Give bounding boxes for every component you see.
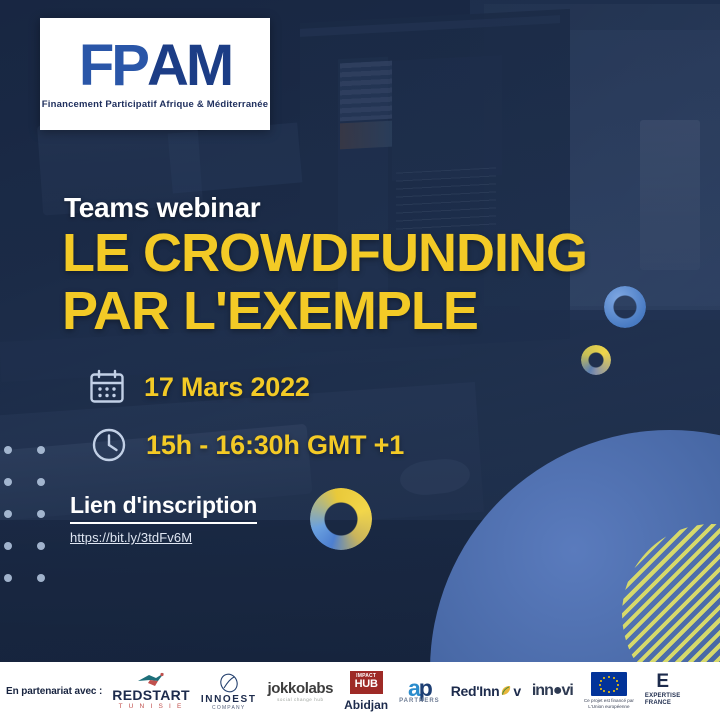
- innoest-leaf-icon: [218, 672, 240, 694]
- title-line-2: PAR L'EXEMPLE: [62, 282, 682, 340]
- webinar-poster: FPAM Financement Participatif Afrique & …: [0, 0, 720, 720]
- fpam-logo: FPAM Financement Participatif Afrique & …: [40, 18, 270, 130]
- webinar-kicker: Teams webinar: [64, 192, 260, 224]
- title-line-1: LE CROWDFUNDING: [62, 223, 587, 283]
- event-time: 15h - 16:30h GMT +1: [146, 430, 404, 461]
- innovi-wordmark: inn●vi: [532, 682, 573, 700]
- redstart-bird-icon: [136, 672, 166, 687]
- ap-wordmark: ap: [408, 678, 431, 699]
- logo-letter-f: F: [79, 38, 111, 93]
- registration-link[interactable]: https://bit.ly/3tdFv6M: [70, 530, 192, 545]
- impact-hub-mark: IMPACT HUB: [350, 671, 383, 694]
- logo-letter-m: M: [186, 38, 231, 93]
- partner-logo-redstart: REDSTART T U N I S I E: [112, 672, 190, 710]
- ap-sub: PARTNERS: [399, 698, 440, 704]
- impact-hub-city: Abidjan: [344, 698, 388, 712]
- expertise-line2: FRANCE: [645, 700, 671, 706]
- redinnov-tail: v: [513, 683, 521, 699]
- innoest-name: INNOEST: [201, 694, 257, 705]
- ap-letter-p: p: [419, 675, 431, 701]
- expertise-france-mark: E: [656, 674, 669, 689]
- partner-logo-european-union: Ce projet est financé par L'Union europé…: [584, 672, 634, 710]
- logo-letter-a: A: [147, 38, 186, 93]
- fpam-wordmark: FPAM: [79, 38, 231, 93]
- eu-flag-icon: [591, 672, 627, 696]
- registration-label: Lien d'inscription: [70, 492, 257, 524]
- eu-caption-line2: L'Union européenne: [588, 704, 629, 709]
- event-date: 17 Mars 2022: [144, 372, 310, 403]
- eu-stars: [591, 672, 627, 696]
- impact-hub-bottom: HUB: [355, 679, 378, 690]
- redinnov-main: Red'Inn: [451, 683, 500, 699]
- partner-logo-impact-hub: IMPACT HUB Abidjan: [344, 671, 388, 712]
- redinnov-leaf-icon: [500, 685, 512, 697]
- partners-label: En partenariat avec :: [6, 686, 102, 697]
- jokkolabs-sub: social change hub: [277, 697, 323, 702]
- partner-logo-innoest: INNOEST COMPANY: [201, 672, 257, 711]
- decor-gradient-ring-large: [310, 488, 372, 550]
- eu-caption-line1: Ce projet est financé par: [584, 698, 634, 703]
- innoest-sub: COMPANY: [212, 705, 245, 711]
- logo-letter-p: P: [111, 38, 147, 93]
- partner-logo-innovi: inn●vi: [532, 682, 573, 700]
- partner-logo-jokkolabs: jokkolabs social change hub: [268, 680, 334, 702]
- decor-yellow-ring: [581, 345, 611, 375]
- redstart-name: REDSTART: [112, 687, 190, 703]
- page-title: LE CROWDFUNDING PAR L'EXEMPLE: [62, 224, 682, 341]
- calendar-icon: [88, 368, 126, 406]
- partner-logo-redinnov: Red'Inn v: [451, 683, 521, 699]
- ap-letter-a: a: [408, 675, 419, 701]
- eu-caption: Ce projet est financé par L'Union europé…: [584, 698, 634, 710]
- time-row: 15h - 16:30h GMT +1: [90, 426, 404, 464]
- expertise-france-text: EXPERTISE FRANCE: [645, 693, 680, 708]
- date-row: 17 Mars 2022: [88, 368, 310, 406]
- partners-footer: En partenariat avec : REDSTART T U N I S…: [0, 662, 720, 720]
- redinnov-wordmark: Red'Inn v: [451, 683, 521, 699]
- decor-dot-grid: [4, 446, 60, 592]
- jokkolabs-name: jokkolabs: [268, 680, 334, 697]
- partner-logo-expertise-france: E EXPERTISE FRANCE: [645, 674, 680, 707]
- expertise-line1: EXPERTISE: [645, 693, 680, 699]
- partner-logo-list: REDSTART T U N I S I E INNOEST COMPANY j…: [112, 671, 680, 712]
- fpam-tagline: Financement Participatif Afrique & Médit…: [42, 99, 269, 110]
- clock-icon: [90, 426, 128, 464]
- partner-logo-ap-partners: ap PARTNERS: [399, 678, 440, 705]
- redstart-sub: T U N I S I E: [119, 703, 184, 710]
